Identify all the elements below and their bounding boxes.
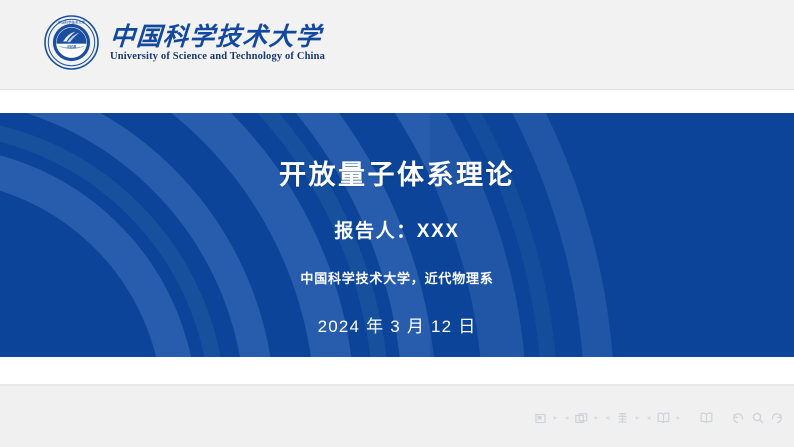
fit-page-icon[interactable] [531,410,550,426]
document-viewer: 1958 中国科学技术大学 中国科学技术大学 University of Sci… [0,0,794,447]
slide-date: 2024 年 3 月 12 日 [318,312,477,337]
rotate-left-icon[interactable] [729,410,748,426]
chevron-right-icon[interactable]: ▸ [591,410,602,426]
university-logo: 1958 中国科学技术大学 中国科学技术大学 University of Sci… [43,14,325,71]
zoom-icon[interactable] [748,410,767,426]
logo-chinese-name: 中国科学技术大学 [109,23,326,50]
slide-speaker: 报告人：XXX [334,216,459,243]
chevron-right-icon[interactable]: ▸ [673,410,684,426]
page-bottom-margin [0,357,794,386]
svg-text:1958: 1958 [67,44,77,49]
slide-title: 开放量子体系理论 [279,161,515,191]
viewer-toolbar: ▸ ◂ ▸ ◂ ▸ ◂ ▸ [0,386,794,447]
header-divider [0,89,794,93]
chevron-left-icon[interactable]: ◂ [561,410,572,426]
logo-wordmark: 中国科学技术大学 University of Science and Techn… [110,23,325,63]
presentation-mode-icon[interactable] [697,410,716,426]
logo-english-name: University of Science and Technology of … [110,51,325,63]
toolbar-spacer [716,410,729,426]
scroll-page-icon[interactable] [613,410,632,426]
book-view-icon[interactable] [654,410,673,426]
chevron-right-icon[interactable]: ▸ [632,410,643,426]
two-page-icon[interactable] [572,410,591,426]
chevron-left-icon[interactable]: ◂ [643,410,654,426]
ustc-seal-emblem: 1958 中国科学技术大学 [43,14,100,71]
page-header: 1958 中国科学技术大学 中国科学技术大学 University of Sci… [0,0,794,89]
slide-affiliation: 中国科学技术大学，近代物理系 [300,268,493,287]
toolbar-spacer [684,410,697,426]
slide-text-block: 开放量子体系理论 报告人：XXX 中国科学技术大学，近代物理系 2024 年 3… [0,113,794,357]
rotate-right-icon[interactable] [767,410,786,426]
chevron-left-icon[interactable]: ◂ [602,410,613,426]
chevron-right-icon[interactable]: ▸ [550,410,561,426]
title-slide: 开放量子体系理论 报告人：XXX 中国科学技术大学，近代物理系 2024 年 3… [0,113,794,357]
toolbar-icon-group: ▸ ◂ ▸ ◂ ▸ ◂ ▸ [531,410,786,426]
svg-text:中国科学技术大学: 中国科学技术大学 [58,20,86,25]
slide-page: 1958 中国科学技术大学 中国科学技术大学 University of Sci… [0,0,794,386]
